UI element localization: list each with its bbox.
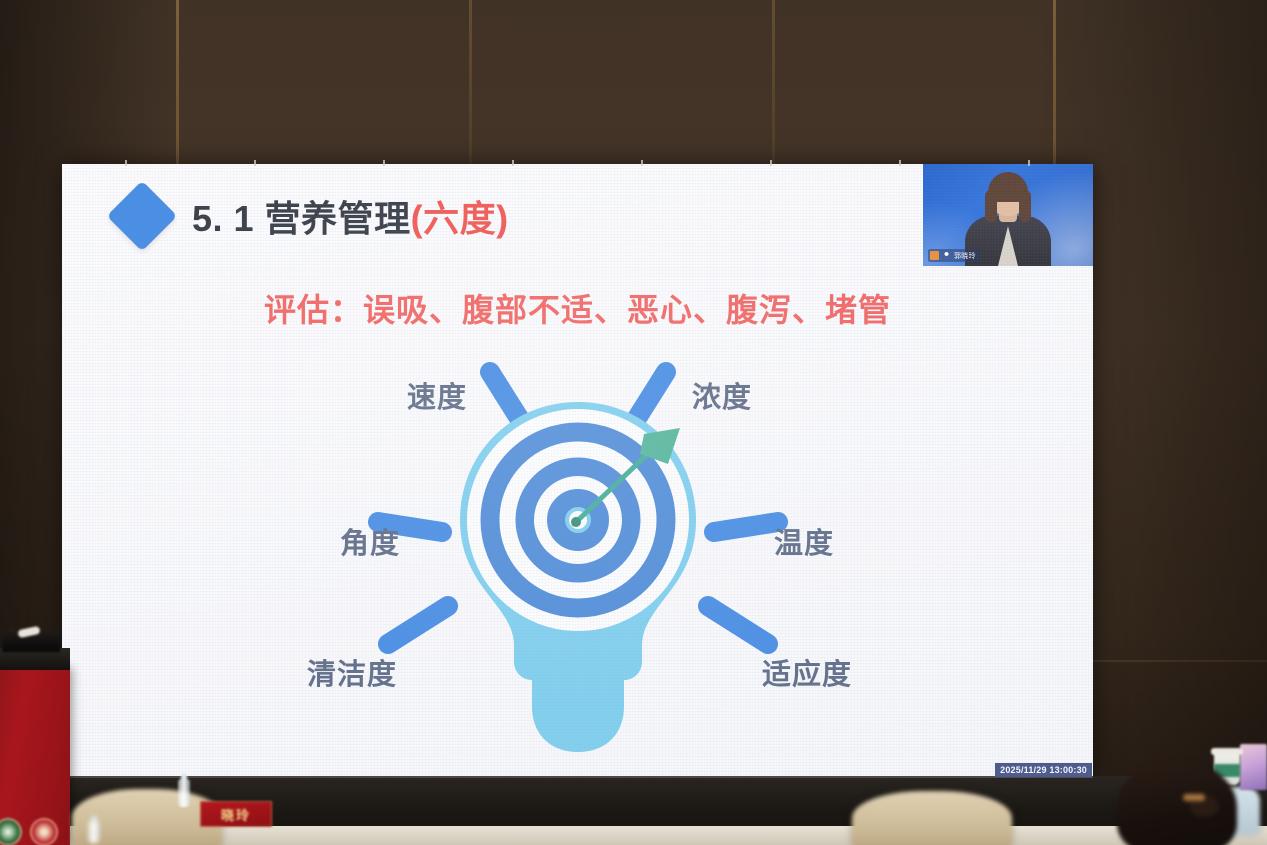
attendee-hair-tie — [1183, 794, 1205, 801]
lightbulb-target-diagram — [62, 354, 1093, 774]
label-adaptability: 适应度 — [762, 651, 852, 693]
screen-clip — [641, 160, 643, 166]
diamond-bullet-icon — [107, 181, 178, 252]
table-surface — [60, 826, 1267, 845]
slide-subtitle: 评估：误吸、腹部不适、恶心、腹泻、堵管 — [62, 285, 1093, 331]
label-speed: 速度 — [407, 374, 467, 416]
title-accent: (六度) — [411, 198, 509, 239]
screen-clip — [899, 160, 901, 166]
presenter-nametag: 郭晓玲 — [928, 249, 980, 262]
slide-title-row: 5. 1 营养管理(六度) — [117, 190, 509, 242]
presenter-hair-right — [1019, 190, 1031, 222]
title-number: 5. 1 — [192, 198, 265, 239]
podium-logo-right — [30, 818, 58, 845]
water-bottle — [88, 821, 100, 843]
desk-nameplate: 晓玲 — [200, 801, 272, 827]
chair — [852, 791, 1012, 845]
video-presenter-tile[interactable]: 郭晓玲 — [923, 164, 1093, 266]
timestamp-overlay: 2025/11/29 13:00:30 — [995, 763, 1092, 777]
screen-clip — [254, 160, 256, 166]
label-cleanliness: 清洁度 — [307, 651, 397, 693]
page-title: 5. 1 营养管理(六度) — [192, 190, 509, 242]
projection-screen: 5. 1 营养管理(六度) 评估：误吸、腹部不适、恶心、腹泻、堵管 — [62, 164, 1093, 778]
label-temperature: 温度 — [774, 520, 834, 562]
label-concentration: 浓度 — [692, 374, 752, 416]
screen-clip — [512, 160, 514, 166]
attendee-silhouette — [1117, 760, 1237, 845]
screen-clip — [125, 160, 127, 166]
title-main: 营养管理 — [265, 198, 411, 239]
presenter-name: 郭晓玲 — [954, 251, 976, 261]
conference-room-photo: 5. 1 营养管理(六度) 评估：误吸、腹部不适、恶心、腹泻、堵管 — [0, 0, 1267, 845]
presenter-hair-left — [985, 190, 997, 222]
speaker-badge-icon — [930, 251, 939, 260]
label-angle: 角度 — [340, 520, 400, 562]
screen-clip — [383, 160, 385, 166]
dart-tip — [571, 517, 581, 527]
coffee-cup-lid — [1211, 748, 1243, 755]
podium-logo-left — [0, 818, 22, 845]
microphone-icon — [942, 251, 951, 260]
screen-clip — [1028, 160, 1030, 166]
screen-clip — [770, 160, 772, 166]
nameplate-text: 晓玲 — [221, 805, 251, 824]
water-bottle — [178, 779, 190, 807]
screen-clips — [62, 160, 1093, 166]
snack-package — [1240, 744, 1267, 790]
